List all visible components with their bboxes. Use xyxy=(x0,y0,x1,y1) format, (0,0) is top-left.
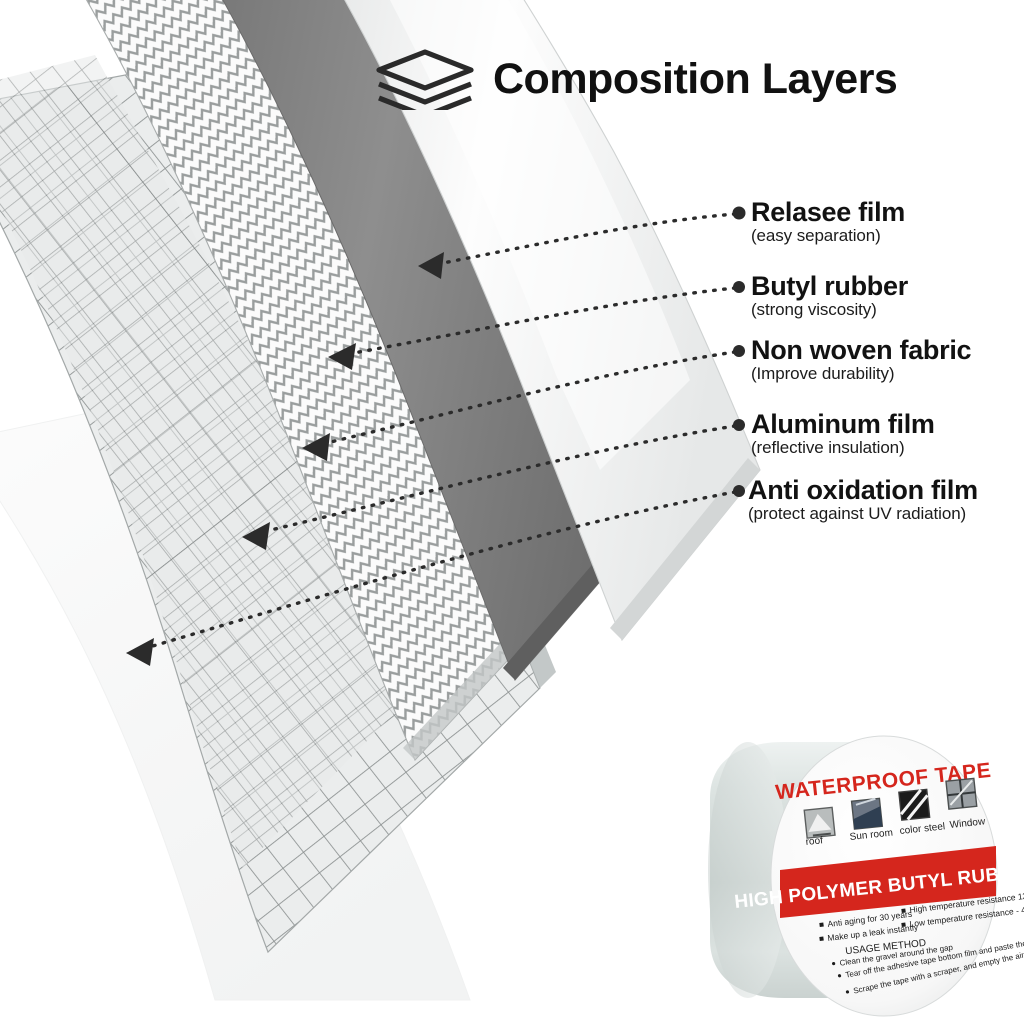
callout-title: Anti oxidation film xyxy=(748,476,978,504)
callout-non-woven-fabric: Non woven fabric (Improve durability) xyxy=(751,336,971,384)
callout-subtitle: (protect against UV radiation) xyxy=(748,505,978,524)
callout-aluminum-film: Aluminum film (reflective insulation) xyxy=(751,410,935,458)
callout-title: Non woven fabric xyxy=(751,336,971,364)
anchor-dot-aluminum-film xyxy=(733,419,745,431)
anchor-dot-release-film xyxy=(733,207,746,220)
thumbnail-window xyxy=(946,778,977,809)
callout-subtitle: (easy separation) xyxy=(751,227,905,246)
callout-subtitle: (strong viscosity) xyxy=(751,301,908,320)
page-title: Composition Layers xyxy=(375,48,897,110)
callout-anti-oxidation-film: Anti oxidation film (protect against UV … xyxy=(748,476,978,524)
page-title-text: Composition Layers xyxy=(493,58,897,101)
layers-stack-icon xyxy=(375,48,475,110)
callout-butyl-rubber: Butyl rubber (strong viscosity) xyxy=(751,272,908,320)
callout-release-film: Relasee film (easy separation) xyxy=(751,198,905,246)
callout-title: Relasee film xyxy=(751,198,905,226)
infographic-canvas: Composition Layers Relasee film (easy se… xyxy=(0,0,1024,1024)
callout-title: Aluminum film xyxy=(751,410,935,438)
app-label-roof: roof xyxy=(805,835,824,848)
anchor-dot-butyl-rubber xyxy=(733,281,745,293)
product-tape-roll: WATERPROOF TAPE xyxy=(688,728,1024,1024)
thumbnail-roof xyxy=(804,807,835,838)
thumbnail-sun-room xyxy=(852,798,883,829)
callout-title: Butyl rubber xyxy=(751,272,908,300)
thumbnail-color-steel xyxy=(899,789,930,820)
callout-subtitle: (reflective insulation) xyxy=(751,439,935,458)
anchor-dot-non-woven-fabric xyxy=(733,345,745,357)
callout-subtitle: (Improve durability) xyxy=(751,365,971,384)
anchor-dot-anti-oxidation-film xyxy=(733,485,745,497)
